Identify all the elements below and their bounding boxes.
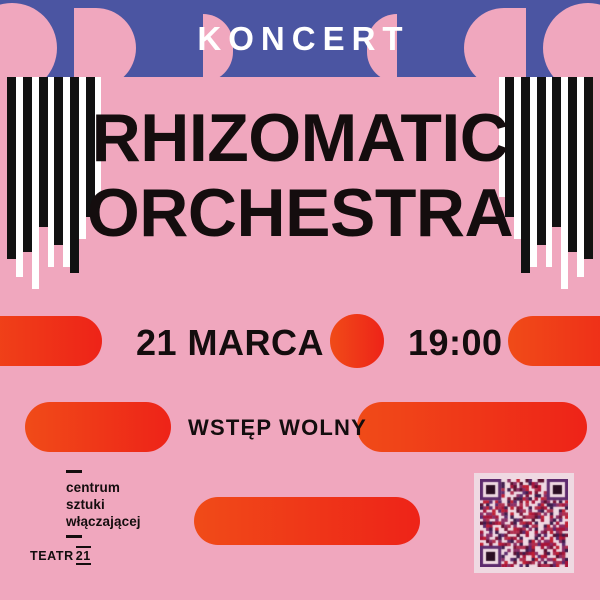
- decor-pill-admission-left: [25, 402, 171, 452]
- event-time: 19:00: [408, 322, 503, 364]
- title-line-2: ORCHESTRA: [0, 176, 600, 251]
- poster-title: RHIZOMATIC ORCHESTRA: [0, 101, 600, 251]
- decor-pill-date-right: [508, 316, 600, 366]
- header-band: KONCERT: [0, 0, 600, 77]
- decor-pill-bottom: [194, 497, 420, 545]
- logo-rule-top: [66, 470, 82, 473]
- theatre-wordmark: TEATR21: [30, 549, 91, 563]
- decor-pill-date-left: [0, 316, 102, 366]
- event-date: 21 MARCA: [136, 322, 324, 364]
- qr-code[interactable]: [474, 473, 574, 573]
- logo-line-1: centrum: [66, 479, 141, 496]
- decor-dot-time: [330, 314, 384, 368]
- logo-rule-bottom: [66, 535, 82, 538]
- admission-label: WSTĘP WOLNY: [188, 415, 367, 441]
- theatre-number: 21: [76, 546, 91, 565]
- title-line-1: RHIZOMATIC: [0, 101, 600, 176]
- logo-line-3: włączającej: [66, 513, 141, 530]
- organiser-logo: centrum sztuki włączającej: [66, 470, 141, 538]
- theatre-name: TEATR: [30, 549, 74, 563]
- concert-poster: KONCERT RHIZOMATIC ORCHESTRA 21 MARCA 19…: [0, 0, 600, 600]
- logo-line-2: sztuki: [66, 496, 141, 513]
- header-label: KONCERT: [0, 0, 600, 77]
- decor-pill-admission-right: [357, 402, 587, 452]
- qr-code-image: [480, 479, 568, 567]
